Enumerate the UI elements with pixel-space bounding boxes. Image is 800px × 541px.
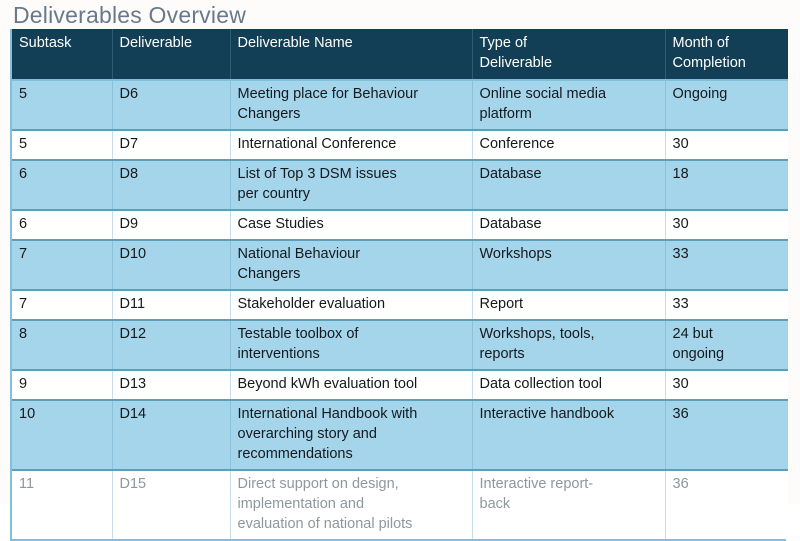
cell-deliverable: D13 — [112, 370, 230, 400]
column-header-subtask-label: Subtask — [19, 33, 106, 53]
cell-subtask: 10 — [12, 400, 112, 470]
cell-subtask: 11 — [12, 470, 112, 539]
cell-month: 30 — [665, 130, 788, 160]
table-row: 7D10National Behaviour ChangersWorkshops… — [12, 240, 788, 290]
deliverables-table: Subtask Deliverable Deliverable Name Typ… — [12, 29, 788, 539]
cell-deliverable-text: D8 — [120, 164, 224, 184]
cell-type-text: Online social media platform — [480, 84, 659, 124]
cell-name: Stakeholder evaluation — [230, 290, 472, 320]
cell-deliverable: D10 — [112, 240, 230, 290]
column-header-deliverable-label: Deliverable — [120, 33, 224, 53]
table-row: 6D9Case StudiesDatabase30 — [12, 210, 788, 240]
cell-type: Conference — [472, 130, 665, 160]
cell-deliverable-text: D11 — [120, 294, 224, 314]
cell-deliverable-text: D12 — [120, 324, 224, 344]
table-row: 5D7International ConferenceConference30 — [12, 130, 788, 160]
cell-deliverable: D9 — [112, 210, 230, 240]
cell-deliverable-text: D7 — [120, 134, 224, 154]
cell-deliverable: D14 — [112, 400, 230, 470]
cell-name-text: Testable toolbox of interventions — [238, 324, 466, 364]
cell-name: Direct support on design, implementation… — [230, 470, 472, 539]
cell-deliverable: D8 — [112, 160, 230, 210]
cell-month-text: 36 — [673, 404, 783, 424]
column-header-month-of-completion: Month of Completion — [665, 29, 788, 80]
cell-subtask: 6 — [12, 210, 112, 240]
deliverables-table-container: Subtask Deliverable Deliverable Name Typ… — [10, 29, 786, 541]
cell-month: 33 — [665, 290, 788, 320]
cell-month-text: 33 — [673, 244, 783, 264]
column-header-type-of-deliverable-label: Type of Deliverable — [480, 33, 659, 73]
cell-subtask-text: 11 — [19, 474, 106, 494]
cell-type: Online social media platform — [472, 80, 665, 130]
page-title: Deliverables Overview — [13, 1, 246, 29]
cell-month: 36 — [665, 470, 788, 539]
table-row: 8D12Testable toolbox of interventionsWor… — [12, 320, 788, 370]
cell-type: Workshops, tools, reports — [472, 320, 665, 370]
column-header-deliverable: Deliverable — [112, 29, 230, 80]
table-row: 9D13Beyond kWh evaluation toolData colle… — [12, 370, 788, 400]
cell-month: Ongoing — [665, 80, 788, 130]
cell-name: Case Studies — [230, 210, 472, 240]
cell-month: 30 — [665, 370, 788, 400]
table-header: Subtask Deliverable Deliverable Name Typ… — [12, 29, 788, 80]
cell-name-text: Direct support on design, implementation… — [238, 474, 466, 534]
cell-deliverable-text: D15 — [120, 474, 224, 494]
cell-subtask-text: 7 — [19, 294, 106, 314]
cell-subtask-text: 10 — [19, 404, 106, 424]
cell-deliverable: D12 — [112, 320, 230, 370]
cell-subtask: 8 — [12, 320, 112, 370]
cell-month-text: 30 — [673, 374, 783, 394]
cell-deliverable-text: D10 — [120, 244, 224, 264]
cell-type: Interactive report- back — [472, 470, 665, 539]
cell-type-text: Interactive report- back — [480, 474, 659, 514]
cell-name-text: National Behaviour Changers — [238, 244, 466, 284]
cell-type-text: Report — [480, 294, 659, 314]
cell-month-text: 30 — [673, 134, 783, 154]
cell-deliverable: D6 — [112, 80, 230, 130]
cell-type: Report — [472, 290, 665, 320]
cell-type: Data collection tool — [472, 370, 665, 400]
table-row: 10D14International Handbook with overarc… — [12, 400, 788, 470]
cell-name: Meeting place for Behaviour Changers — [230, 80, 472, 130]
cell-month-text: 24 but ongoing — [673, 324, 783, 364]
cell-subtask: 5 — [12, 80, 112, 130]
cell-type-text: Conference — [480, 134, 659, 154]
column-header-deliverable-name-label: Deliverable Name — [238, 33, 466, 53]
cell-subtask-text: 5 — [19, 84, 106, 104]
cell-deliverable: D7 — [112, 130, 230, 160]
cell-subtask-text: 9 — [19, 374, 106, 394]
cell-name: Testable toolbox of interventions — [230, 320, 472, 370]
cell-subtask: 9 — [12, 370, 112, 400]
cell-name-text: Meeting place for Behaviour Changers — [238, 84, 466, 124]
cell-type: Workshops — [472, 240, 665, 290]
cell-type-text: Database — [480, 214, 659, 234]
cell-type-text: Workshops, tools, reports — [480, 324, 659, 364]
cell-type: Database — [472, 160, 665, 210]
cell-month: 24 but ongoing — [665, 320, 788, 370]
cell-type: Database — [472, 210, 665, 240]
cell-name-text: Stakeholder evaluation — [238, 294, 466, 314]
column-header-type-of-deliverable: Type of Deliverable — [472, 29, 665, 80]
cell-subtask-text: 5 — [19, 134, 106, 154]
cell-name: National Behaviour Changers — [230, 240, 472, 290]
cell-type-text: Data collection tool — [480, 374, 659, 394]
cell-name: List of Top 3 DSM issues per country — [230, 160, 472, 210]
cell-month-text: 18 — [673, 164, 783, 184]
table-row: 6D8List of Top 3 DSM issues per countryD… — [12, 160, 788, 210]
cell-month-text: 30 — [673, 214, 783, 234]
cell-subtask-text: 6 — [19, 164, 106, 184]
cell-deliverable-text: D6 — [120, 84, 224, 104]
cell-deliverable-text: D13 — [120, 374, 224, 394]
cell-subtask-text: 7 — [19, 244, 106, 264]
table-body: 5D6Meeting place for Behaviour ChangersO… — [12, 80, 788, 539]
document-page: Deliverables Overview Subtask Deliverabl… — [0, 0, 800, 504]
cell-name: International Handbook with overarching … — [230, 400, 472, 470]
cell-subtask-text: 8 — [19, 324, 106, 344]
cell-name: International Conference — [230, 130, 472, 160]
cell-subtask: 5 — [12, 130, 112, 160]
cell-subtask: 6 — [12, 160, 112, 210]
cell-month-text: Ongoing — [673, 84, 783, 104]
cell-month: 30 — [665, 210, 788, 240]
table-row: 7D11Stakeholder evaluationReport33 — [12, 290, 788, 320]
cell-name-text: List of Top 3 DSM issues per country — [238, 164, 466, 204]
cell-deliverable: D15 — [112, 470, 230, 539]
cell-month: 18 — [665, 160, 788, 210]
cell-type-text: Database — [480, 164, 659, 184]
cell-type: Interactive handbook — [472, 400, 665, 470]
cell-name-text: International Handbook with overarching … — [238, 404, 466, 464]
column-header-subtask: Subtask — [12, 29, 112, 80]
cell-name-text: Case Studies — [238, 214, 466, 234]
table-row: 5D6Meeting place for Behaviour ChangersO… — [12, 80, 788, 130]
cell-month-text: 33 — [673, 294, 783, 314]
cell-subtask-text: 6 — [19, 214, 106, 234]
cell-deliverable: D11 — [112, 290, 230, 320]
cell-month-text: 36 — [673, 474, 783, 494]
cell-type-text: Interactive handbook — [480, 404, 659, 424]
cell-deliverable-text: D9 — [120, 214, 224, 234]
cell-name-text: International Conference — [238, 134, 466, 154]
cell-month: 36 — [665, 400, 788, 470]
cell-deliverable-text: D14 — [120, 404, 224, 424]
cell-name: Beyond kWh evaluation tool — [230, 370, 472, 400]
table-header-row: Subtask Deliverable Deliverable Name Typ… — [12, 29, 788, 80]
cell-subtask: 7 — [12, 240, 112, 290]
column-header-month-of-completion-label: Month of Completion — [673, 33, 783, 73]
column-header-deliverable-name: Deliverable Name — [230, 29, 472, 80]
cell-subtask: 7 — [12, 290, 112, 320]
cell-type-text: Workshops — [480, 244, 659, 264]
cell-name-text: Beyond kWh evaluation tool — [238, 374, 466, 394]
cell-month: 33 — [665, 240, 788, 290]
table-row: 11D15Direct support on design, implement… — [12, 470, 788, 539]
